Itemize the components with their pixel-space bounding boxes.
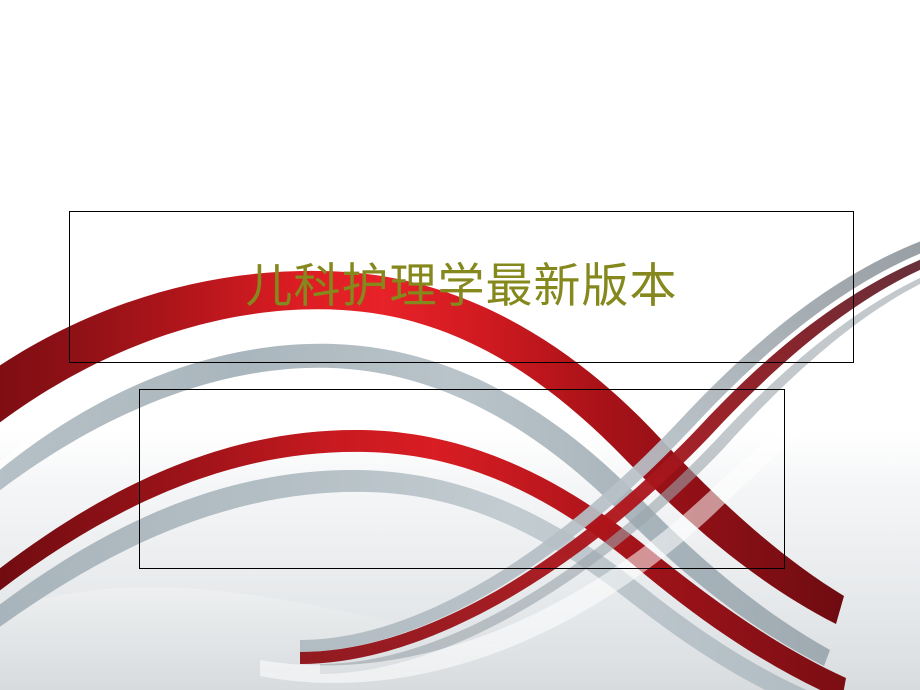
slide-title[interactable]: 儿科护理学最新版本 — [236, 261, 688, 314]
subtitle-placeholder-box[interactable] — [139, 389, 785, 569]
slide-canvas: 儿科护理学最新版本 — [0, 0, 920, 690]
title-placeholder-box[interactable]: 儿科护理学最新版本 — [69, 211, 854, 363]
